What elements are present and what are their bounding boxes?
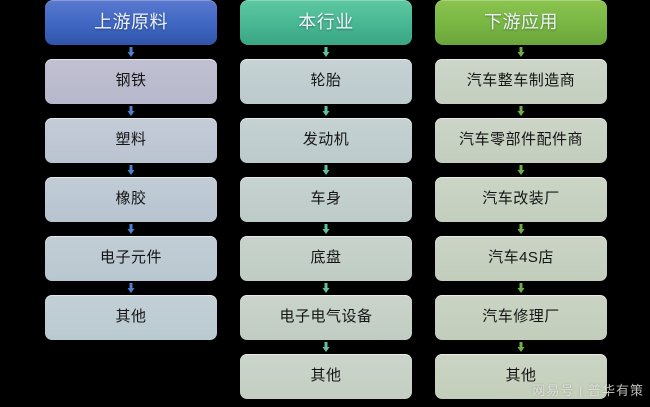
- connector-arrow-1-5: [240, 340, 412, 354]
- chain-node[interactable]: 电子电气设备: [240, 295, 412, 340]
- arrow-down-icon: [128, 283, 135, 293]
- arrow-down-icon: [323, 165, 330, 175]
- chain-node[interactable]: 汽车修理厂: [435, 295, 607, 340]
- arrow-down-icon: [323, 342, 330, 352]
- chain-node[interactable]: 发动机: [240, 118, 412, 163]
- arrow-down-icon: [323, 224, 330, 234]
- arrow-down-icon: [518, 283, 525, 293]
- arrow-down-icon: [518, 47, 525, 57]
- chain-column-2: 下游应用汽车整车制造商汽车零部件配件商汽车改装厂汽车4S店汽车修理厂其他: [435, 0, 607, 399]
- chain-node[interactable]: 汽车整车制造商: [435, 59, 607, 104]
- chain-node[interactable]: 汽车改装厂: [435, 177, 607, 222]
- connector-arrow-0-1: [45, 104, 217, 118]
- chain-node[interactable]: 汽车零部件配件商: [435, 118, 607, 163]
- chain-node[interactable]: 底盘: [240, 236, 412, 281]
- arrow-down-icon: [518, 342, 525, 352]
- chain-node[interactable]: 车身: [240, 177, 412, 222]
- connector-arrow-2-1: [435, 104, 607, 118]
- chain-column-1: 本行业轮胎发动机车身底盘电子电气设备其他: [240, 0, 412, 399]
- chain-node[interactable]: 塑料: [45, 118, 217, 163]
- connector-arrow-2-5: [435, 340, 607, 354]
- arrow-down-icon: [128, 106, 135, 116]
- chain-node[interactable]: 汽车4S店: [435, 236, 607, 281]
- arrow-down-icon: [518, 106, 525, 116]
- column-header-1[interactable]: 本行业: [240, 0, 412, 45]
- arrow-down-icon: [323, 283, 330, 293]
- connector-arrow-1-4: [240, 281, 412, 295]
- arrow-down-icon: [128, 224, 135, 234]
- arrow-down-icon: [128, 47, 135, 57]
- connector-arrow-2-0: [435, 45, 607, 59]
- connector-arrow-0-4: [45, 281, 217, 295]
- chain-node[interactable]: 其他: [45, 295, 217, 340]
- column-header-0[interactable]: 上游原料: [45, 0, 217, 45]
- chain-node[interactable]: 橡胶: [45, 177, 217, 222]
- arrow-down-icon: [323, 47, 330, 57]
- industry-chain-diagram: 下游应用汽车整车制造商汽车零部件配件商汽车改装厂汽车4S店汽车修理厂其他本行业轮…: [0, 0, 650, 407]
- connector-arrow-2-3: [435, 222, 607, 236]
- connector-arrow-0-0: [45, 45, 217, 59]
- connector-arrow-1-2: [240, 163, 412, 177]
- connector-arrow-1-1: [240, 104, 412, 118]
- arrow-down-icon: [518, 224, 525, 234]
- connector-arrow-0-2: [45, 163, 217, 177]
- connector-arrow-1-3: [240, 222, 412, 236]
- chain-column-0: 上游原料钢铁塑料橡胶电子元件其他: [45, 0, 217, 340]
- chain-node[interactable]: 钢铁: [45, 59, 217, 104]
- connector-arrow-2-2: [435, 163, 607, 177]
- connector-arrow-1-0: [240, 45, 412, 59]
- column-header-2[interactable]: 下游应用: [435, 0, 607, 45]
- chain-node[interactable]: 其他: [240, 354, 412, 399]
- chain-node[interactable]: 电子元件: [45, 236, 217, 281]
- chain-node[interactable]: 轮胎: [240, 59, 412, 104]
- arrow-down-icon: [128, 165, 135, 175]
- connector-arrow-0-3: [45, 222, 217, 236]
- chain-node[interactable]: 其他: [435, 354, 607, 399]
- arrow-down-icon: [323, 106, 330, 116]
- connector-arrow-2-4: [435, 281, 607, 295]
- arrow-down-icon: [518, 165, 525, 175]
